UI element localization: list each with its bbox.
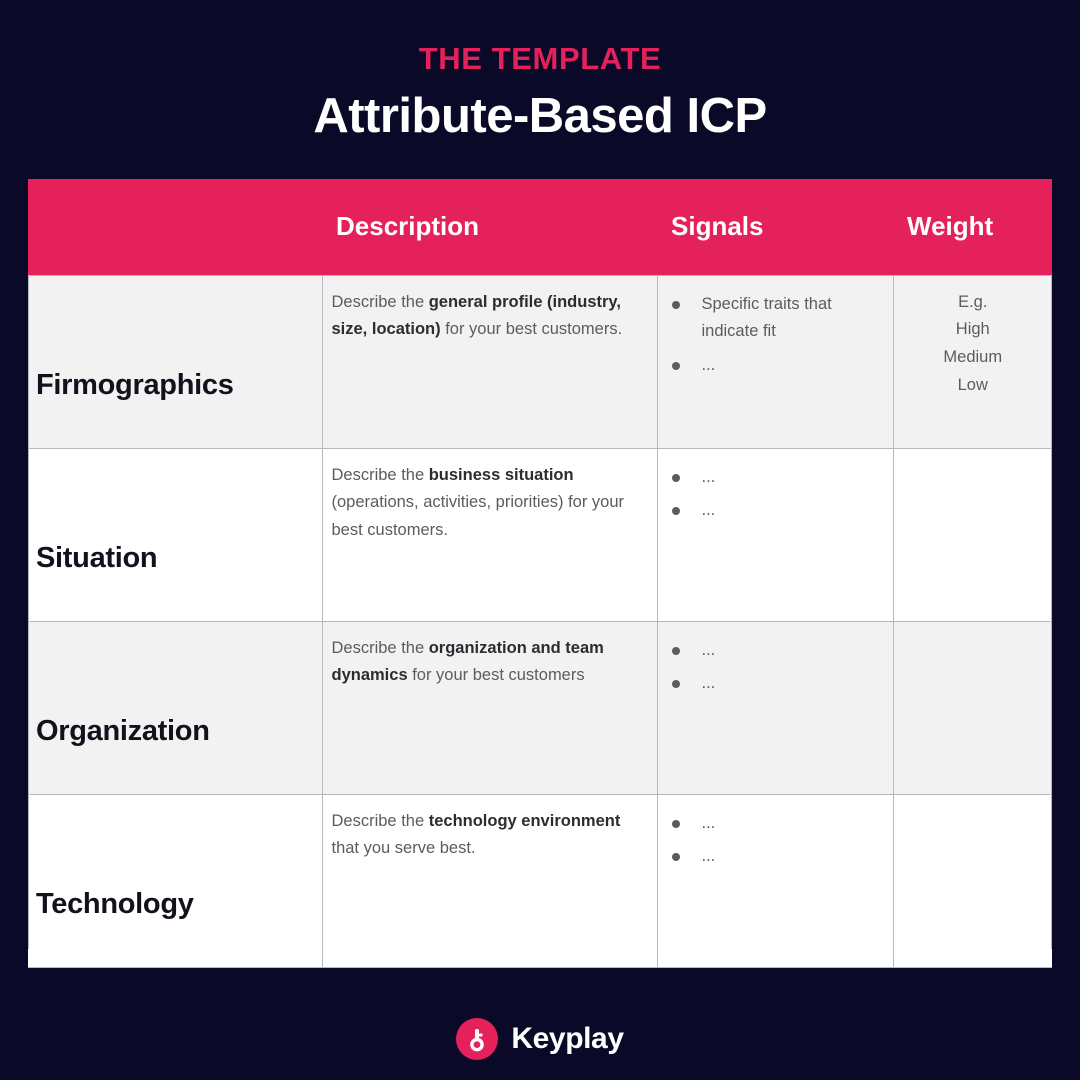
signal-item: ...: [664, 497, 885, 525]
template-page: THE TEMPLATE Attribute-Based ICP Descrip…: [0, 0, 1080, 1080]
description-cell: Describe the general profile (industry, …: [322, 275, 657, 448]
table-row: SituationDescribe the business situation…: [28, 448, 1052, 621]
attribute-name: Firmographics: [36, 369, 234, 401]
attribute-name: Technology: [36, 888, 194, 920]
description-text: Describe the organization and team dynam…: [332, 635, 646, 690]
signals-cell: Specific traits that indicate fit...: [657, 275, 893, 448]
column-header-signals: Signals: [657, 179, 893, 275]
weight-cell: E.g.HighMediumLow: [893, 275, 1052, 448]
signal-item: ...: [664, 352, 885, 380]
table-row: OrganizationDescribe the organization an…: [28, 621, 1052, 794]
eyebrow-label: THE TEMPLATE: [0, 42, 1080, 76]
signals-cell: ......: [657, 448, 893, 621]
footer-brand: Keyplay: [0, 1018, 1080, 1060]
description-fragment: Describe the: [332, 466, 429, 484]
brand-name: Keyplay: [511, 1022, 623, 1056]
icp-table: Description Signals Weight Firmographics…: [28, 179, 1052, 968]
signal-item: ...: [664, 670, 885, 698]
description-fragment: (operations, activities, priorities) for…: [332, 493, 625, 539]
description-emphasis: business situation: [429, 466, 574, 484]
attribute-cell: Firmographics: [28, 275, 322, 448]
signal-item: Specific traits that indicate fit: [664, 291, 885, 346]
icp-table-container: Description Signals Weight Firmographics…: [28, 179, 1052, 949]
description-cell: Describe the technology environment that…: [322, 794, 657, 967]
description-fragment: Describe the: [332, 812, 429, 830]
signal-item: ...: [664, 810, 885, 838]
signals-cell: ......: [657, 794, 893, 967]
attribute-cell: Technology: [28, 794, 322, 967]
description-text: Describe the technology environment that…: [332, 808, 646, 863]
weight-cell: [893, 621, 1052, 794]
weight-option: Medium: [904, 344, 1043, 372]
column-header-description: Description: [322, 179, 657, 275]
page-header: THE TEMPLATE Attribute-Based ICP: [0, 0, 1080, 144]
weight-cell: [893, 794, 1052, 967]
table-header: Description Signals Weight: [28, 179, 1052, 275]
signal-item: ...: [664, 464, 885, 492]
column-header-weight: Weight: [893, 179, 1052, 275]
description-fragment: that you serve best.: [332, 839, 476, 857]
weight-option: E.g.: [904, 289, 1043, 317]
description-emphasis: technology environment: [429, 812, 621, 830]
table-row: FirmographicsDescribe the general profil…: [28, 275, 1052, 448]
weight-options: E.g.HighMediumLow: [904, 289, 1043, 400]
signals-cell: ......: [657, 621, 893, 794]
description-cell: Describe the business situation (operati…: [322, 448, 657, 621]
key-icon: [456, 1018, 498, 1060]
attribute-name: Situation: [36, 542, 157, 574]
header-row: Description Signals Weight: [28, 179, 1052, 275]
table-body: FirmographicsDescribe the general profil…: [28, 275, 1052, 967]
description-fragment: Describe the: [332, 293, 429, 311]
weight-option: High: [904, 316, 1043, 344]
description-fragment: for your best customers.: [441, 320, 623, 338]
description-text: Describe the business situation (operati…: [332, 462, 646, 545]
page-title: Attribute-Based ICP: [0, 88, 1080, 144]
weight-option: Low: [904, 372, 1043, 400]
signal-item: ...: [664, 843, 885, 871]
signals-list: ......: [664, 464, 885, 525]
signals-list: Specific traits that indicate fit...: [664, 291, 885, 380]
weight-cell: [893, 448, 1052, 621]
column-header-attribute: [28, 179, 322, 275]
signals-list: ......: [664, 810, 885, 871]
description-text: Describe the general profile (industry, …: [332, 289, 646, 344]
attribute-cell: Situation: [28, 448, 322, 621]
attribute-name: Organization: [36, 715, 210, 747]
description-fragment: for your best customers: [408, 666, 585, 684]
table-row: TechnologyDescribe the technology enviro…: [28, 794, 1052, 967]
description-cell: Describe the organization and team dynam…: [322, 621, 657, 794]
description-fragment: Describe the: [332, 639, 429, 657]
signal-item: ...: [664, 637, 885, 665]
attribute-cell: Organization: [28, 621, 322, 794]
signals-list: ......: [664, 637, 885, 698]
